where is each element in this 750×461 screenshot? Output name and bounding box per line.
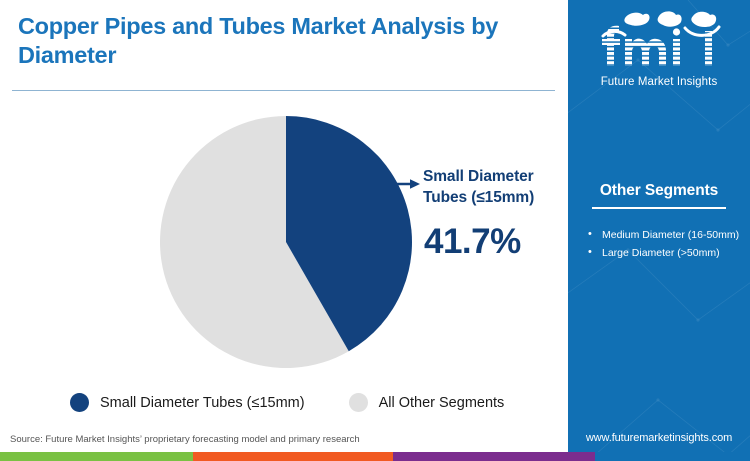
page-title: Copper Pipes and Tubes Market Analysis b… — [18, 12, 538, 69]
legend-label: Small Diameter Tubes (≤15mm) — [100, 395, 305, 411]
legend-item-all-other-segments: All Other Segments — [349, 393, 505, 412]
chart-legend: Small Diameter Tubes (≤15mm) All Other S… — [70, 393, 504, 412]
source-note: Source: Future Market Insights’ propriet… — [10, 434, 360, 445]
globe-map-icon — [589, 6, 729, 70]
bottom-color-bar — [0, 452, 750, 461]
callout-label: Small Diameter Tubes (≤15mm) — [423, 166, 563, 208]
bar-segment-blue — [595, 452, 750, 461]
arrow-right-icon — [391, 178, 421, 190]
segments-divider — [592, 207, 726, 209]
website-url[interactable]: www.futuremarketinsights.com — [568, 432, 750, 444]
list-item: Medium Diameter (16-50mm) — [588, 228, 746, 243]
legend-swatch-icon — [349, 393, 368, 412]
list-item: Large Diameter (>50mm) — [588, 246, 746, 261]
bar-segment-green — [0, 452, 193, 461]
sidebar: Future Market Insights Other Segments Me… — [568, 0, 750, 461]
title-divider — [12, 90, 555, 91]
pie-chart — [160, 116, 412, 368]
bar-segment-purple — [393, 452, 595, 461]
other-segments-list: Medium Diameter (16-50mm) Large Diameter… — [588, 228, 746, 264]
bar-segment-orange — [193, 452, 393, 461]
logo-tagline: Future Market Insights — [568, 76, 750, 88]
fmi-logo: Future Market Insights — [568, 6, 750, 88]
infographic-page: Copper Pipes and Tubes Market Analysis b… — [0, 0, 750, 461]
title-block: Copper Pipes and Tubes Market Analysis b… — [18, 12, 538, 69]
legend-item-small-diameter-tubes: Small Diameter Tubes (≤15mm) — [70, 393, 305, 412]
pie-chart-svg — [160, 116, 412, 368]
legend-label: All Other Segments — [379, 395, 505, 411]
legend-swatch-icon — [70, 393, 89, 412]
other-segments-heading: Other Segments — [568, 182, 750, 200]
callout-value: 41.7% — [424, 224, 521, 259]
